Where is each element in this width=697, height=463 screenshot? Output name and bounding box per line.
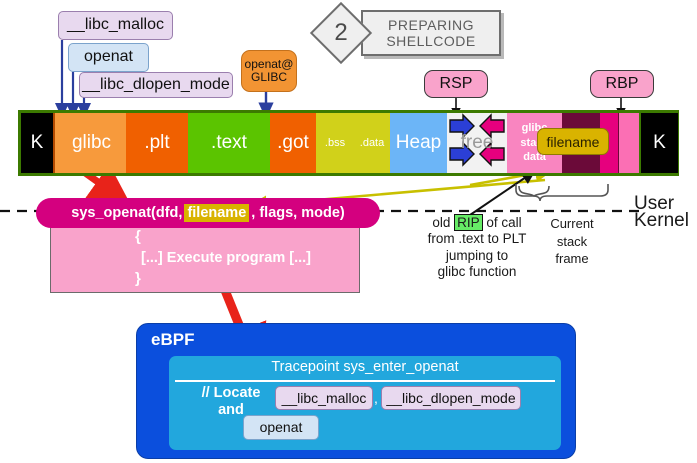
segment-bss[interactable]: .bss [316,113,356,173]
ebpf-title: eBPF [151,330,194,350]
filename-badge[interactable]: filename [537,128,609,155]
tracepoint-comment: // Locate and [191,385,271,418]
segment-heap[interactable]: Heap [390,113,449,173]
ebpf-symbol-libc-malloc[interactable]: __libc_malloc [275,386,373,410]
segment-label: free [461,132,494,154]
step-badge-title-1: PREPARING [388,17,474,33]
segment-kernel-right[interactable]: K [639,113,678,173]
callout-rsp[interactable]: RSP [424,70,488,98]
segment-label: .plt [144,132,169,154]
current-frame-brace [519,186,549,196]
segment-text[interactable]: .text [188,113,272,173]
segment-label: .got [277,132,309,154]
current-frame-brace-wide [516,184,608,201]
syscall-body-box: { [...] Execute program [...] } [50,225,360,293]
segment-label: .text [211,132,247,154]
segment-plt[interactable]: .plt [126,113,190,173]
callout-openat-glibc-line2: GLIBC [251,71,287,84]
callout-openat[interactable]: openat [68,43,149,72]
ebpf-symbol-openat[interactable]: openat [243,415,319,440]
segment-free[interactable]: free [447,113,509,173]
current-frame-line2: stack [557,234,587,249]
old-rip-line2: from .text to PLT [428,231,527,246]
syscall-signature-suffix: , flags, mode) [251,205,344,221]
ebpf-symbol-libc-dlopen-mode[interactable]: __libc_dlopen_mode [381,386,521,410]
segment-label: .data [360,137,384,149]
old-rip-suffix: of call [486,215,521,230]
old-rip-arrow [470,175,529,215]
callout-libc-dlopen-mode[interactable]: __libc_dlopen_mode [79,72,233,98]
step-badge-plate: PREPARING SHELLCODE [361,10,501,56]
callout-libc-malloc[interactable]: __libc_malloc [58,11,173,40]
segment-label: K [31,132,44,154]
tracepoint-card[interactable]: Tracepoint sys_enter_openat // Locate an… [169,356,561,450]
step-badge-title-2: SHELLCODE [386,33,475,49]
old-rip-prefix: old [432,215,450,230]
boundary-label-kernel: Kernel [634,210,689,232]
old-rip-line4: glibc function [438,264,517,279]
current-frame-annotation: Current stack frame [524,215,620,268]
syscall-filename-arg[interactable]: filename [184,204,249,222]
ebpf-symbol-separator: , [374,390,378,406]
step-badge-number: 2 [319,11,363,55]
syscall-signature-prefix: sys_openat(dfd, [71,205,182,221]
segment-label: glibc [72,132,111,154]
segment-label: K [653,132,666,154]
syscall-brace-open: { [135,228,141,245]
current-frame-line3: frame [555,251,588,266]
segment-kernel-left[interactable]: K [21,113,53,173]
segment-label: .bss [325,137,345,149]
old-rip-line3: jumping to [446,248,508,263]
step-badge: PREPARING SHELLCODE 2 [311,4,501,66]
syscall-brace-close: } [135,270,141,287]
tracepoint-title: Tracepoint sys_enter_openat [169,359,561,375]
segment-glibc[interactable]: glibc [53,113,130,173]
ebpf-container: eBPF Tracepoint sys_enter_openat // Loca… [136,323,576,459]
current-frame-line1: Current [550,216,593,231]
old-rip-register: RIP [454,214,483,231]
segment-label: Heap [396,132,441,154]
syscall-signature-pill[interactable]: sys_openat(dfd, filename , flags, mode) [36,198,380,228]
syscall-body-text: [...] Execute program [...] [111,250,341,266]
callout-openat-glibc[interactable]: openat@ GLIBC [241,50,297,92]
callout-rbp[interactable]: RBP [590,70,654,98]
segment-data[interactable]: .data [354,113,392,173]
segment-got[interactable]: .got [270,113,318,173]
tracepoint-divider [175,380,555,382]
diagram-canvas: PREPARING SHELLCODE 2 __libc_malloc open… [0,0,697,463]
